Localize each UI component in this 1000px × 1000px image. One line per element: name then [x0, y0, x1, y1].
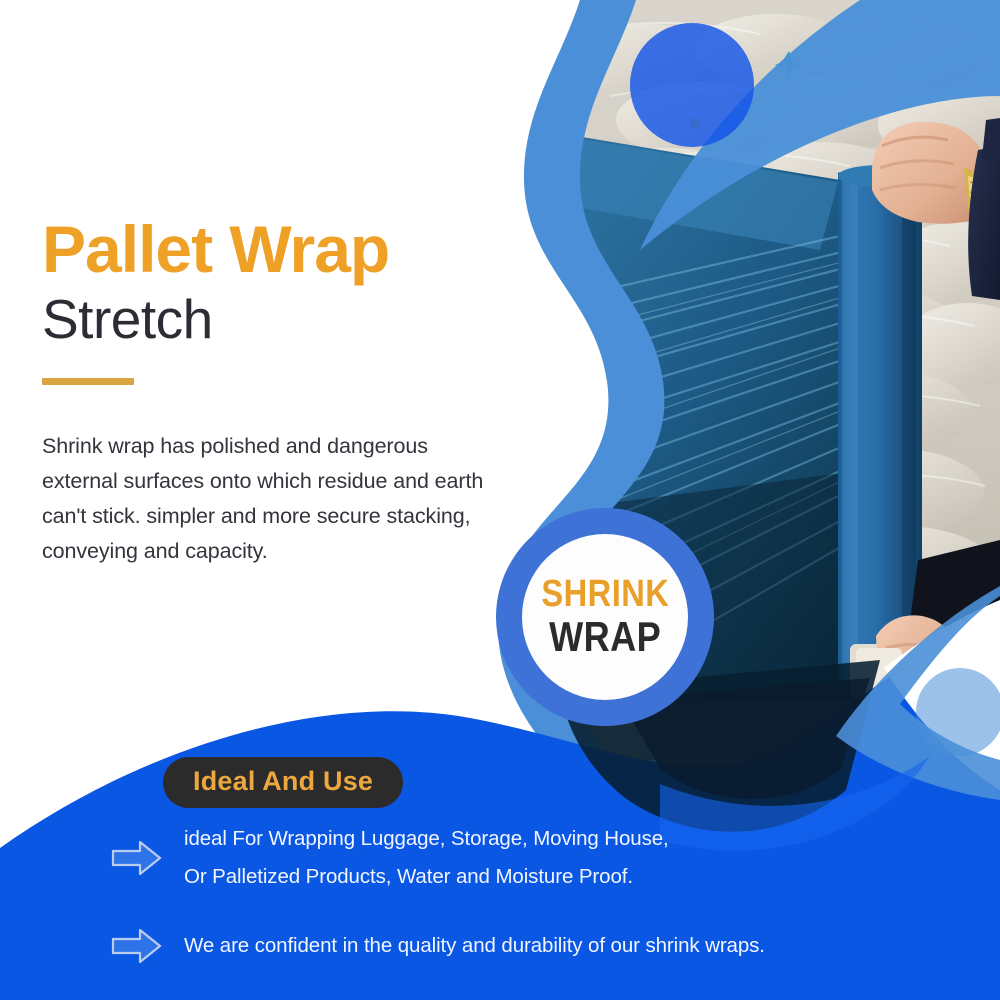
promo-poster: Pallet Wrap Stretch Shrink wrap has poli… [0, 0, 1000, 1000]
shrink-wrap-badge: SHRINK WRAP [496, 508, 714, 726]
page-subtitle: Stretch [42, 285, 512, 354]
feature-list: ideal For Wrapping Luggage, Storage, Mov… [110, 826, 900, 969]
headline-block: Pallet Wrap Stretch Shrink wrap has poli… [42, 216, 512, 568]
list-item: We are confident in the quality and dura… [110, 923, 900, 969]
page-title: Pallet Wrap [42, 216, 512, 283]
bullet-line: Or Palletized Products, Water and Moistu… [184, 864, 669, 890]
ideal-and-use-pill: Ideal And Use [163, 757, 403, 808]
pill-label: Ideal And Use [193, 766, 373, 797]
arrow-right-icon [110, 926, 184, 966]
bullet-line: ideal For Wrapping Luggage, Storage, Mov… [184, 826, 669, 852]
list-item: ideal For Wrapping Luggage, Storage, Mov… [110, 826, 900, 889]
badge-line-2: WRAP [549, 615, 661, 659]
badge-line-1: SHRINK [541, 575, 669, 613]
badge-inner-circle: SHRINK WRAP [522, 534, 688, 700]
arrow-right-icon [110, 838, 184, 878]
title-underline [42, 378, 134, 385]
bullet-line: We are confident in the quality and dura… [184, 933, 765, 959]
bullet-text-group: ideal For Wrapping Luggage, Storage, Mov… [184, 826, 669, 889]
bullet-text-group: We are confident in the quality and dura… [184, 933, 765, 959]
description-text: Shrink wrap has polished and dangerous e… [42, 429, 504, 568]
